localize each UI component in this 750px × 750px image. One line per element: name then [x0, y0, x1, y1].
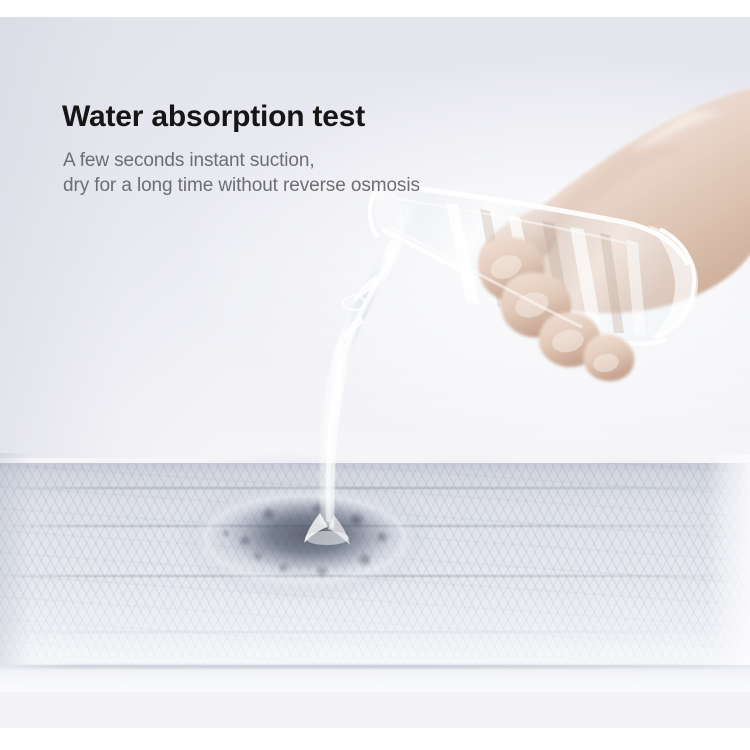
glass-base	[648, 225, 698, 339]
letterbox-top	[0, 0, 750, 17]
glass-body	[377, 185, 694, 343]
background-left-shade	[0, 17, 225, 458]
water-splash-upper	[352, 275, 380, 305]
finger-middle	[501, 273, 571, 338]
text-block: Water absorption test A few seconds inst…	[62, 100, 420, 198]
mat-front-border	[0, 665, 750, 692]
mat-quilt-seam	[0, 525, 750, 527]
glass-top-edge	[386, 185, 688, 265]
glass-base-highlight	[656, 229, 694, 337]
scene-photo: Water absorption test A few seconds inst…	[0, 17, 750, 728]
glass-inner-edge	[396, 199, 626, 243]
mat-weave-diagonal-a	[0, 463, 750, 692]
glass-specular-bands	[446, 203, 646, 335]
mat-quilt-seam	[0, 575, 750, 577]
water-swirl	[343, 296, 365, 310]
glass-refraction-bands	[480, 209, 624, 333]
finger-pinky	[583, 334, 634, 381]
hand-knuckle-shading	[528, 147, 686, 259]
glass-front-edge	[390, 227, 582, 327]
mat-quilt-seam	[0, 631, 750, 633]
page-title: Water absorption test	[62, 100, 420, 134]
letterbox-bottom	[0, 728, 750, 750]
hand-highlight	[630, 111, 724, 155]
mat-quilt-seam	[13, 487, 737, 489]
mat-surface	[0, 463, 750, 692]
hand-back	[502, 87, 750, 313]
thumb	[480, 209, 558, 274]
finger-index	[478, 237, 544, 301]
glass-bottom-edge	[382, 229, 666, 344]
mat-weave-horizontal	[0, 463, 750, 692]
thumb-crease	[493, 239, 530, 265]
subtitle: A few seconds instant suction, dry for a…	[63, 149, 420, 198]
mat-fade-mask	[0, 463, 750, 692]
mat-weave-diagonal-b	[0, 463, 750, 692]
subtitle-line-1: A few seconds instant suction,	[63, 149, 420, 174]
finger-ring	[539, 312, 601, 367]
background-glow	[0, 17, 750, 444]
absorbent-mat	[0, 447, 750, 692]
water-splash-mid	[341, 315, 365, 345]
subtitle-line-2: dry for a long time without reverse osmo…	[63, 174, 420, 199]
finger-tips-highlight	[487, 251, 620, 374]
product-feature-banner: Water absorption test A few seconds inst…	[0, 0, 750, 750]
